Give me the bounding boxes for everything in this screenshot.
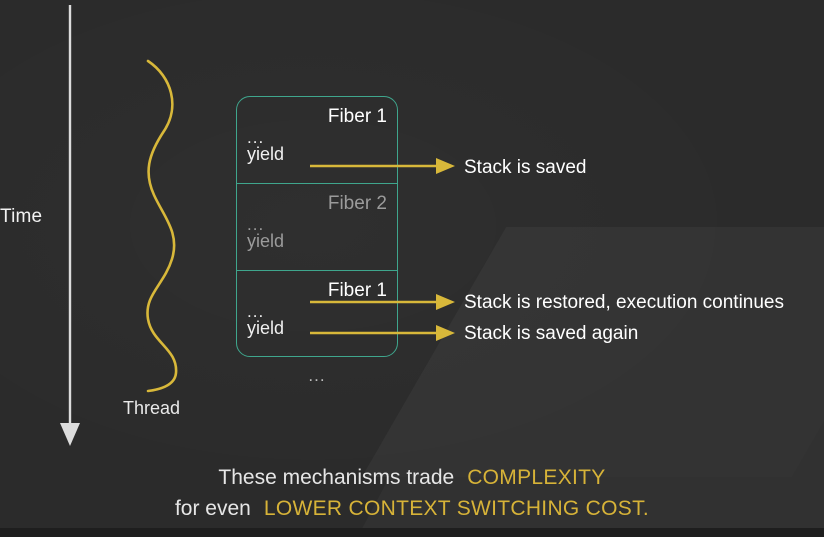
caption-line-1-white: These mechanisms trade — [218, 466, 454, 489]
background-vignette — [0, 0, 824, 537]
time-axis-label: Time — [0, 206, 42, 228]
callout-label-stack-restored: Stack is restored, execution continues — [464, 292, 784, 314]
fiber-row-3-code-yield: yield — [247, 319, 284, 337]
caption-line-1-gold: COMPLEXITY — [467, 466, 605, 489]
caption-block: These mechanisms tradeCOMPLEXITY for eve… — [0, 462, 824, 524]
fiber-stack-ellipsis: ... — [236, 366, 398, 386]
fiber-row-1-title: Fiber 1 — [328, 106, 387, 128]
fiber-row-2-title: Fiber 2 — [328, 193, 387, 215]
caption-line-2-white: for even — [175, 497, 251, 520]
fiber-row-3[interactable]: Fiber 1 ... yield — [237, 271, 397, 358]
caption-line-1: These mechanisms tradeCOMPLEXITY — [0, 462, 824, 493]
fiber-row-1-code: ... yield — [247, 133, 284, 163]
fiber-row-2-code: ... yield — [247, 220, 284, 250]
fiber-row-3-code: ... yield — [247, 307, 284, 337]
background-diagonal-wash-b — [362, 227, 824, 477]
slide-canvas: Time Thread Fiber 1 ... yield Fiber 2 ..… — [0, 0, 824, 537]
fiber-row-2[interactable]: Fiber 2 ... yield — [237, 184, 397, 271]
fiber-row-2-code-yield: yield — [247, 232, 284, 250]
fiber-row-1-code-yield: yield — [247, 145, 284, 163]
fiber-row-1[interactable]: Fiber 1 ... yield — [237, 97, 397, 184]
caption-line-2-gold: LOWER CONTEXT SWITCHING COST. — [264, 497, 649, 520]
callout-label-stack-saved: Stack is saved — [464, 157, 587, 179]
fiber-stack-container: Fiber 1 ... yield Fiber 2 ... yield Fibe… — [236, 96, 398, 357]
callout-label-stack-saved-again: Stack is saved again — [464, 323, 638, 345]
thread-label: Thread — [123, 398, 180, 419]
caption-line-2: for evenLOWER CONTEXT SWITCHING COST. — [0, 493, 824, 524]
callout-arrows-layer — [0, 0, 824, 537]
thread-squiggle-icon — [128, 55, 202, 395]
fiber-row-3-title: Fiber 1 — [328, 280, 387, 302]
background-bottom-band — [0, 528, 824, 537]
time-axis-arrow-icon — [48, 0, 96, 450]
